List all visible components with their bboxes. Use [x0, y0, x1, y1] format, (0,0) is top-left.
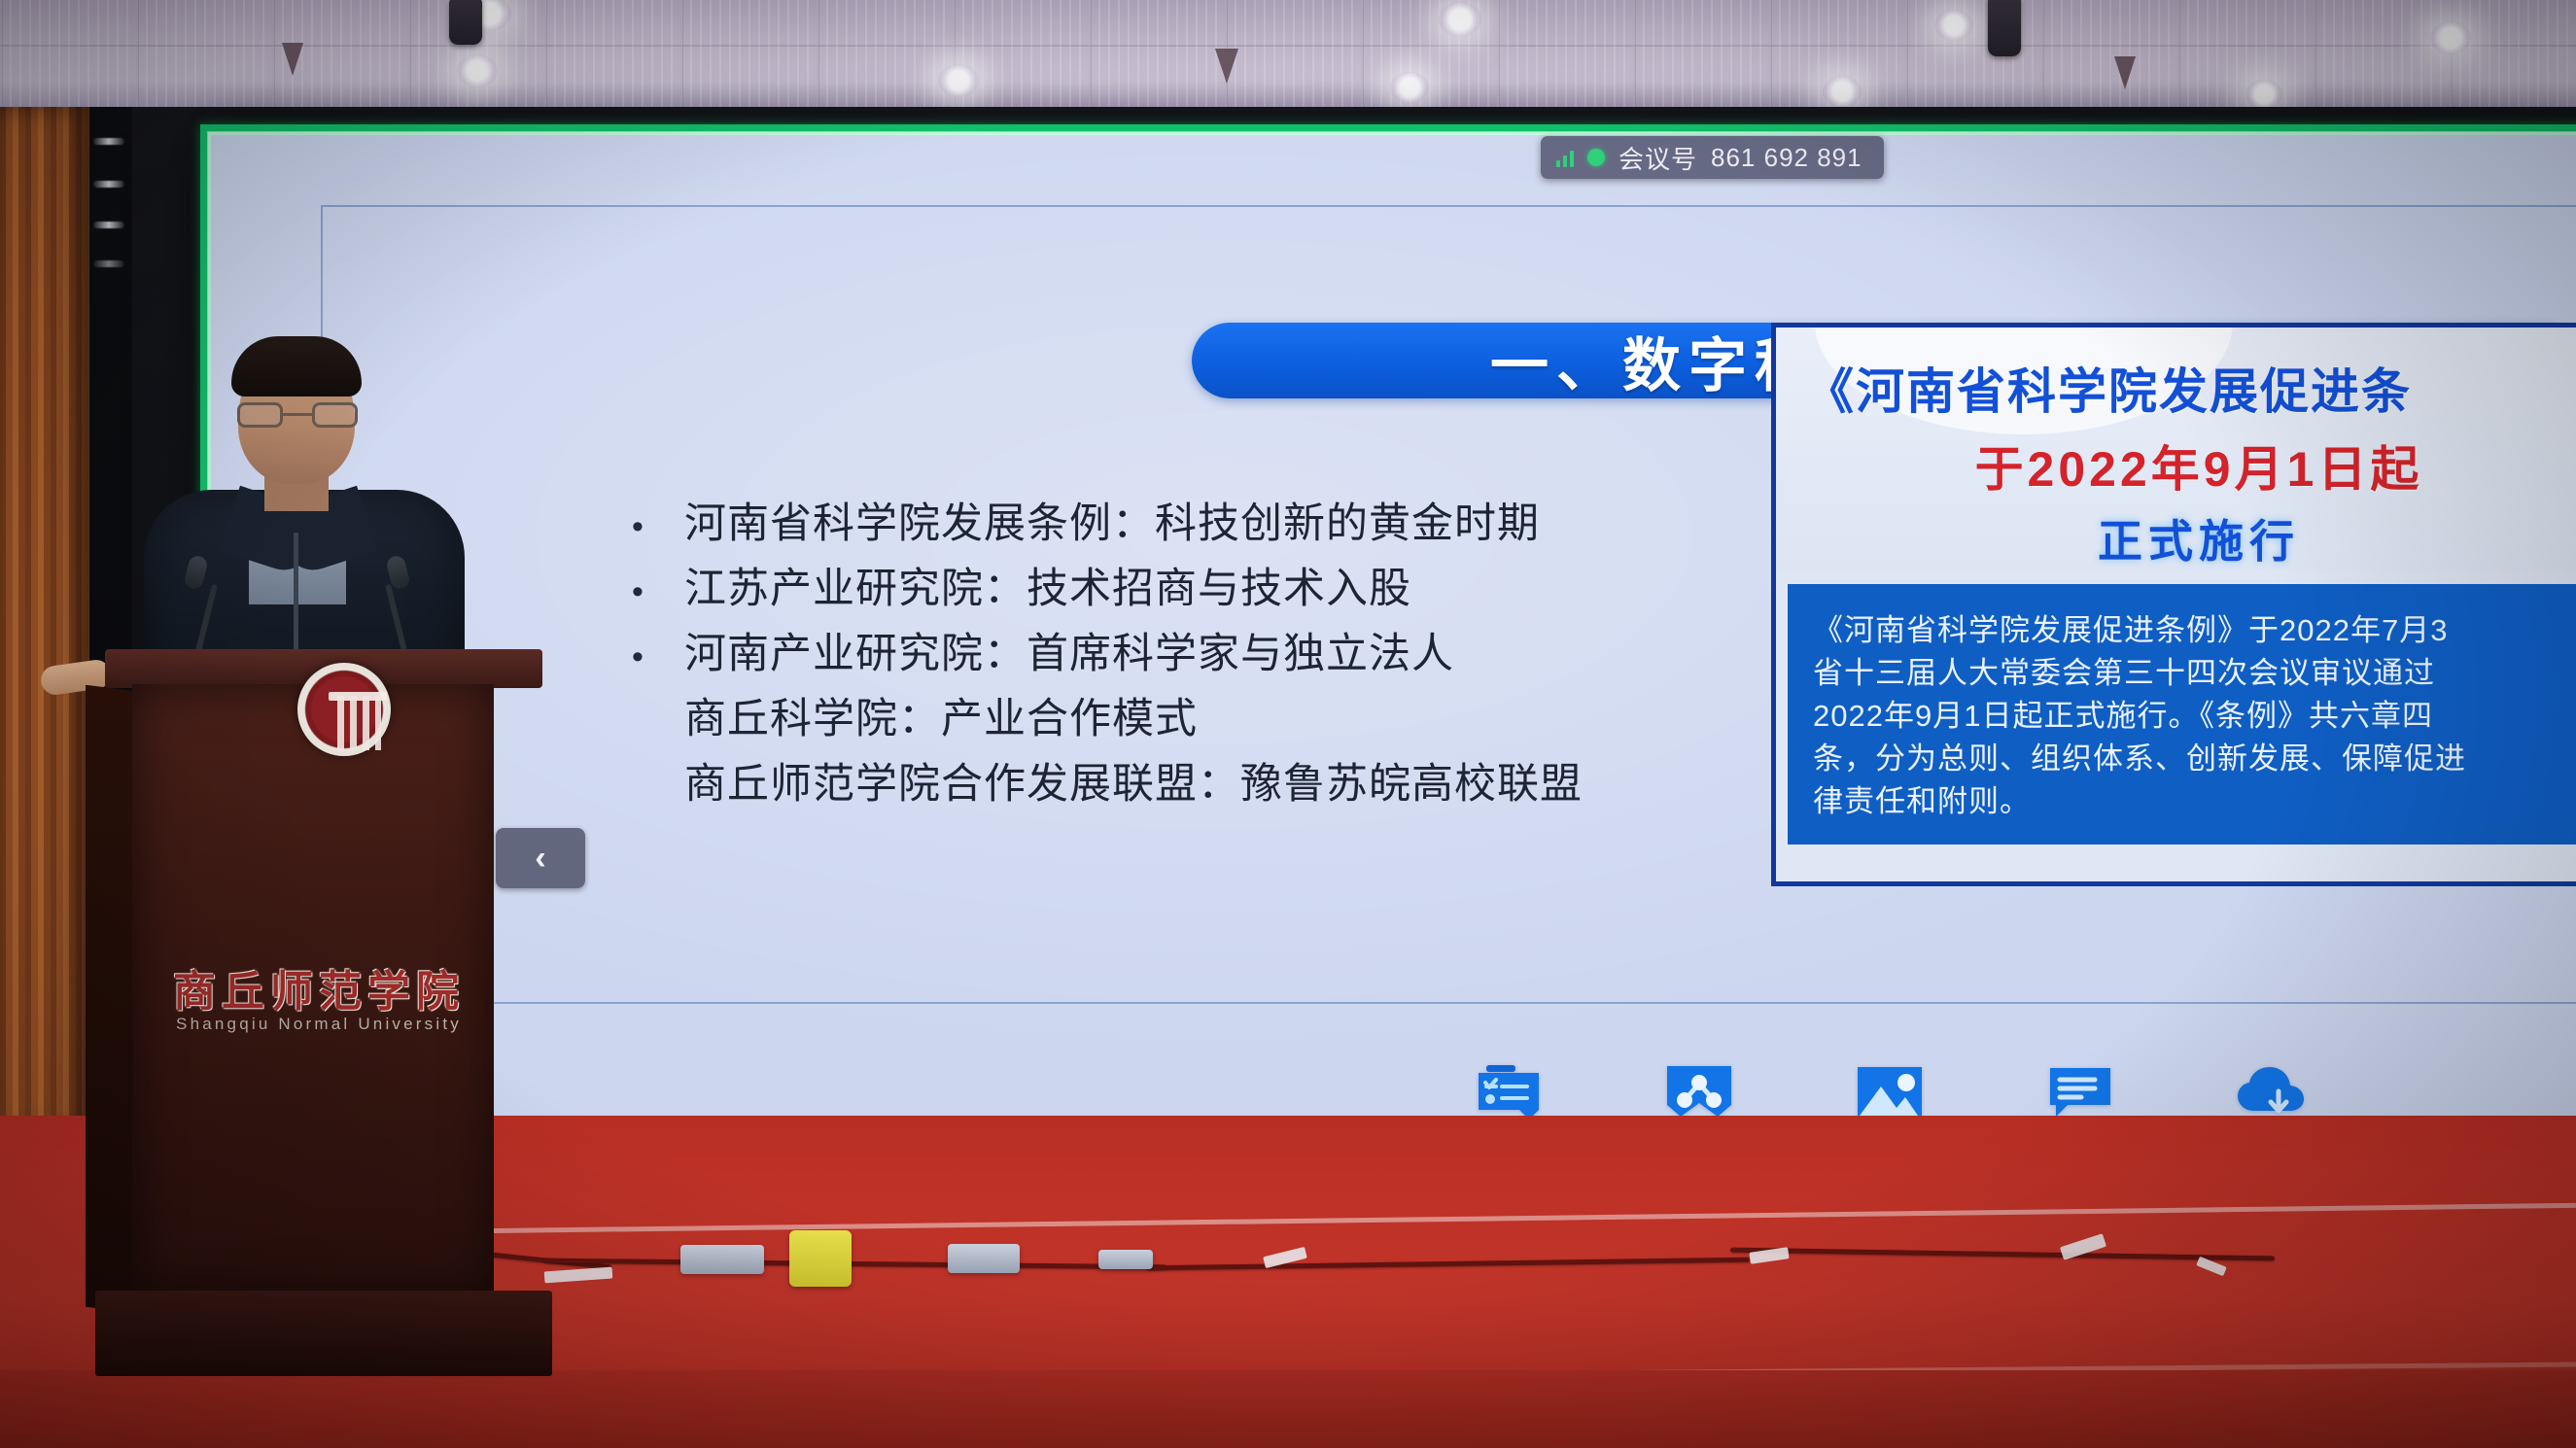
- list-item: 商丘科学院：产业合作模式: [626, 685, 1919, 750]
- panel-body-line: 省十三届人大常委会第三十四次会议审议通过: [1813, 652, 2576, 695]
- meeting-badge-label: 会议号: [1619, 140, 1697, 176]
- signal-bars-icon: [1556, 148, 1574, 167]
- university-emblem: [297, 663, 391, 756]
- panel-body-line: 《河南省科学院发展促进条例》于2022年7月3: [1813, 609, 2576, 652]
- ceiling-spotlight: [1988, 0, 2021, 56]
- meeting-id-value: 861 692 891: [1711, 143, 1862, 173]
- university-emblem-glyph: [334, 696, 381, 750]
- bullet-text: 商丘师范学院合作发展联盟：豫鲁苏皖高校联盟: [684, 750, 1583, 810]
- ceiling-downlight: [457, 54, 498, 87]
- ceiling-downlight: [1823, 76, 1862, 107]
- floor-cable-box: [680, 1245, 764, 1274]
- stage-apron: [0, 1370, 2576, 1448]
- list-item: • 江苏产业研究院：技术招商与技术入股: [626, 555, 1919, 620]
- av-cable: [544, 1258, 1166, 1270]
- ceiling-downlight: [1934, 10, 1973, 41]
- stage-carpet-seam: [321, 1203, 2576, 1235]
- list-item: • 河南产业研究院：首席科学家与独立法人: [626, 620, 1919, 685]
- ceiling-air-diffuser: [2114, 56, 2136, 89]
- speaker-hair: [231, 336, 362, 396]
- floor-tape: [544, 1267, 613, 1284]
- speaker-glasses: [237, 402, 358, 428]
- ceiling-acoustic-panels: [0, 0, 2576, 109]
- meeting-id-badge: 会议号 861 692 891: [1541, 136, 1884, 179]
- panel-headline-line-1: 《河南省科学院发展促进条: [1776, 353, 2576, 423]
- panel-body-line: 条，分为总则、组织体系、创新发展、保障促进: [1813, 738, 2576, 780]
- bullet-marker: •: [626, 640, 684, 673]
- bullet-text: 江苏产业研究院：技术招商与技术入股: [684, 555, 1411, 615]
- wood-slat-column: [0, 107, 89, 1137]
- bullet-text: 商丘科学院：产业合作模式: [684, 685, 1198, 745]
- floor-cable-box: [1098, 1250, 1153, 1269]
- regulation-info-panel: 《河南省科学院发展促进条 于2022年9月1日起 正式施行 为我省科技创新 提供…: [1771, 323, 2576, 886]
- panel-body-text: 《河南省科学院发展促进条例》于2022年7月3 省十三届人大常委会第三十四次会议…: [1788, 584, 2576, 845]
- bullet-text: 河南产业研究院：首席科学家与独立法人: [684, 620, 1454, 680]
- bullet-marker: •: [626, 510, 684, 543]
- bullet-text: 河南省科学院发展条例：科技创新的黄金时期: [684, 490, 1540, 550]
- ceiling-downlight: [2245, 80, 2282, 109]
- floor-cable-box: [948, 1244, 1020, 1273]
- ceiling-air-diffuser: [1215, 49, 1238, 84]
- panel-headline-line-2: 于2022年9月1日起: [1776, 431, 2576, 500]
- wall-accent-light: [93, 138, 124, 145]
- slide-decorative-frame-top: [321, 205, 2576, 207]
- ceiling-downlight: [1390, 72, 1429, 103]
- av-cable: [1730, 1248, 2275, 1261]
- bullet-marker: •: [626, 575, 684, 608]
- lectern: 商丘师范学院 Shangqiu Normal University: [105, 649, 542, 1378]
- slide-bullet-list: • 河南省科学院发展条例：科技创新的黄金时期 • 江苏产业研究院：技术招商与技术…: [626, 490, 1919, 815]
- panel-headline-block: 《河南省科学院发展促进条 于2022年9月1日起 正式施行 为我省科技创新 提供…: [1776, 328, 2576, 570]
- panel-body-line: 律责任和附则。: [1813, 780, 2576, 823]
- yellow-power-box: [789, 1230, 852, 1287]
- list-item: • 河南省科学院发展条例：科技创新的黄金时期: [626, 490, 1919, 555]
- panel-headline-line-3: 正式施行: [1776, 506, 2576, 570]
- wall-accent-light: [93, 260, 124, 267]
- panel-body-line: 2022年9月1日起正式施行。《条例》共六章四: [1813, 695, 2576, 738]
- ceiling-spotlight: [449, 0, 482, 45]
- wall-accent-light: [93, 222, 124, 228]
- ceiling-downlight: [2430, 21, 2471, 54]
- lectern-side: [86, 685, 136, 1313]
- speaker-person: [126, 342, 476, 692]
- wall-accent-light: [93, 181, 124, 188]
- conference-hall-photo: 一、数字科技产业转化平台 • 河南省科学院发展条例：科技创新的黄金时期 • 江苏…: [0, 0, 2576, 1448]
- university-name-en: Shangqiu Normal University: [154, 1015, 484, 1034]
- av-cable: [1147, 1258, 1750, 1271]
- lectern-base: [95, 1291, 552, 1376]
- green-status-dot-icon: [1587, 149, 1605, 166]
- lectern-front-face: 商丘师范学院 Shangqiu Normal University: [132, 684, 494, 1296]
- university-emblem-disc: [311, 676, 377, 742]
- ceiling: [0, 0, 2576, 109]
- list-item: 商丘师范学院合作发展联盟：豫鲁苏皖高校联盟: [626, 750, 1919, 815]
- ceiling-downlight: [1439, 2, 1481, 37]
- ceiling-air-diffuser: [282, 43, 303, 76]
- university-name-cn: 商丘师范学院: [154, 956, 484, 1018]
- ceiling-downlight: [938, 64, 979, 97]
